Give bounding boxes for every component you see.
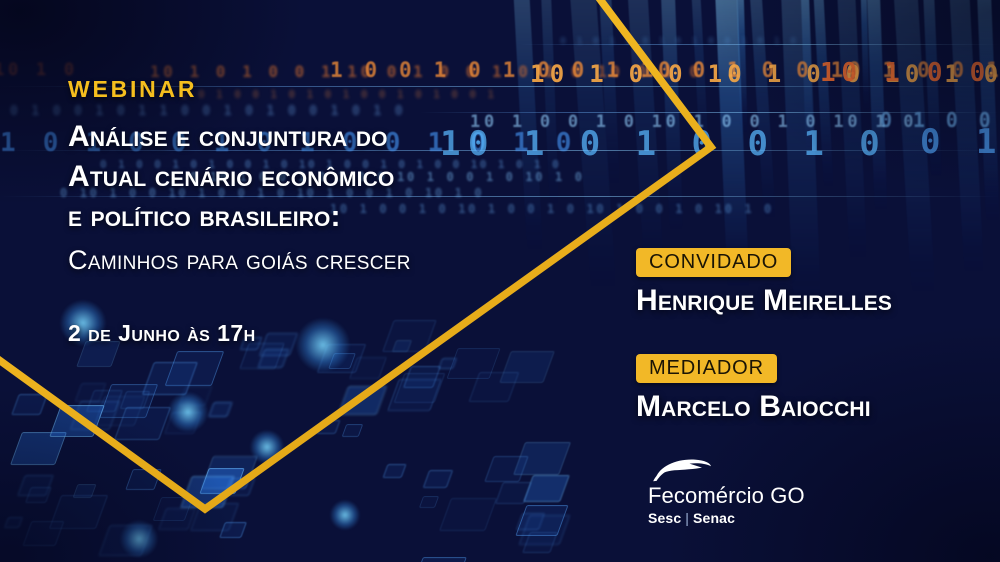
- logo-wordmark: Fecomércio GO: [648, 484, 858, 507]
- webinar-poster: 10 1 010 1 0 1 0 0 1 10 0 1 0 0 1 0 1 0 …: [0, 0, 1000, 562]
- title-line-3: e político brasileiro:: [68, 197, 538, 237]
- speaker-block-guest: CONVIDADO Henrique Meirelles: [636, 248, 966, 319]
- speaker-block-mediator: MEDIADOR Marcelo Baiocchi: [636, 354, 966, 425]
- status-badge-convidado: CONVIDADO: [636, 248, 791, 277]
- logo-senac: Senac: [693, 510, 735, 526]
- logo-divider: |: [681, 510, 693, 526]
- page-title: Análise e conjuntura do Atual cenário ec…: [68, 117, 538, 237]
- speakers-column: CONVIDADO Henrique Meirelles MEDIADOR Ma…: [636, 248, 966, 425]
- page-subtitle: Caminhos para goiás crescer: [68, 244, 538, 278]
- event-datetime: 2 de Junho às 17h: [68, 320, 538, 347]
- logo-subbrands: Sesc|Senac: [648, 510, 858, 526]
- feather-swoosh-icon: [650, 457, 712, 483]
- fecomercio-logo: Fecomércio GO Sesc|Senac: [648, 457, 858, 526]
- title-line-2: Atual cenário econômico: [68, 157, 538, 197]
- headline-column: WEBINAR Análise e conjuntura do Atual ce…: [68, 78, 538, 347]
- kicker-label: WEBINAR: [68, 78, 538, 101]
- title-line-1: Análise e conjuntura do: [68, 117, 538, 157]
- speaker-name-guest: Henrique Meirelles: [636, 284, 966, 319]
- speaker-name-mediator: Marcelo Baiocchi: [636, 390, 966, 425]
- logo-sesc: Sesc: [648, 510, 681, 526]
- status-badge-mediador: MEDIADOR: [636, 354, 777, 383]
